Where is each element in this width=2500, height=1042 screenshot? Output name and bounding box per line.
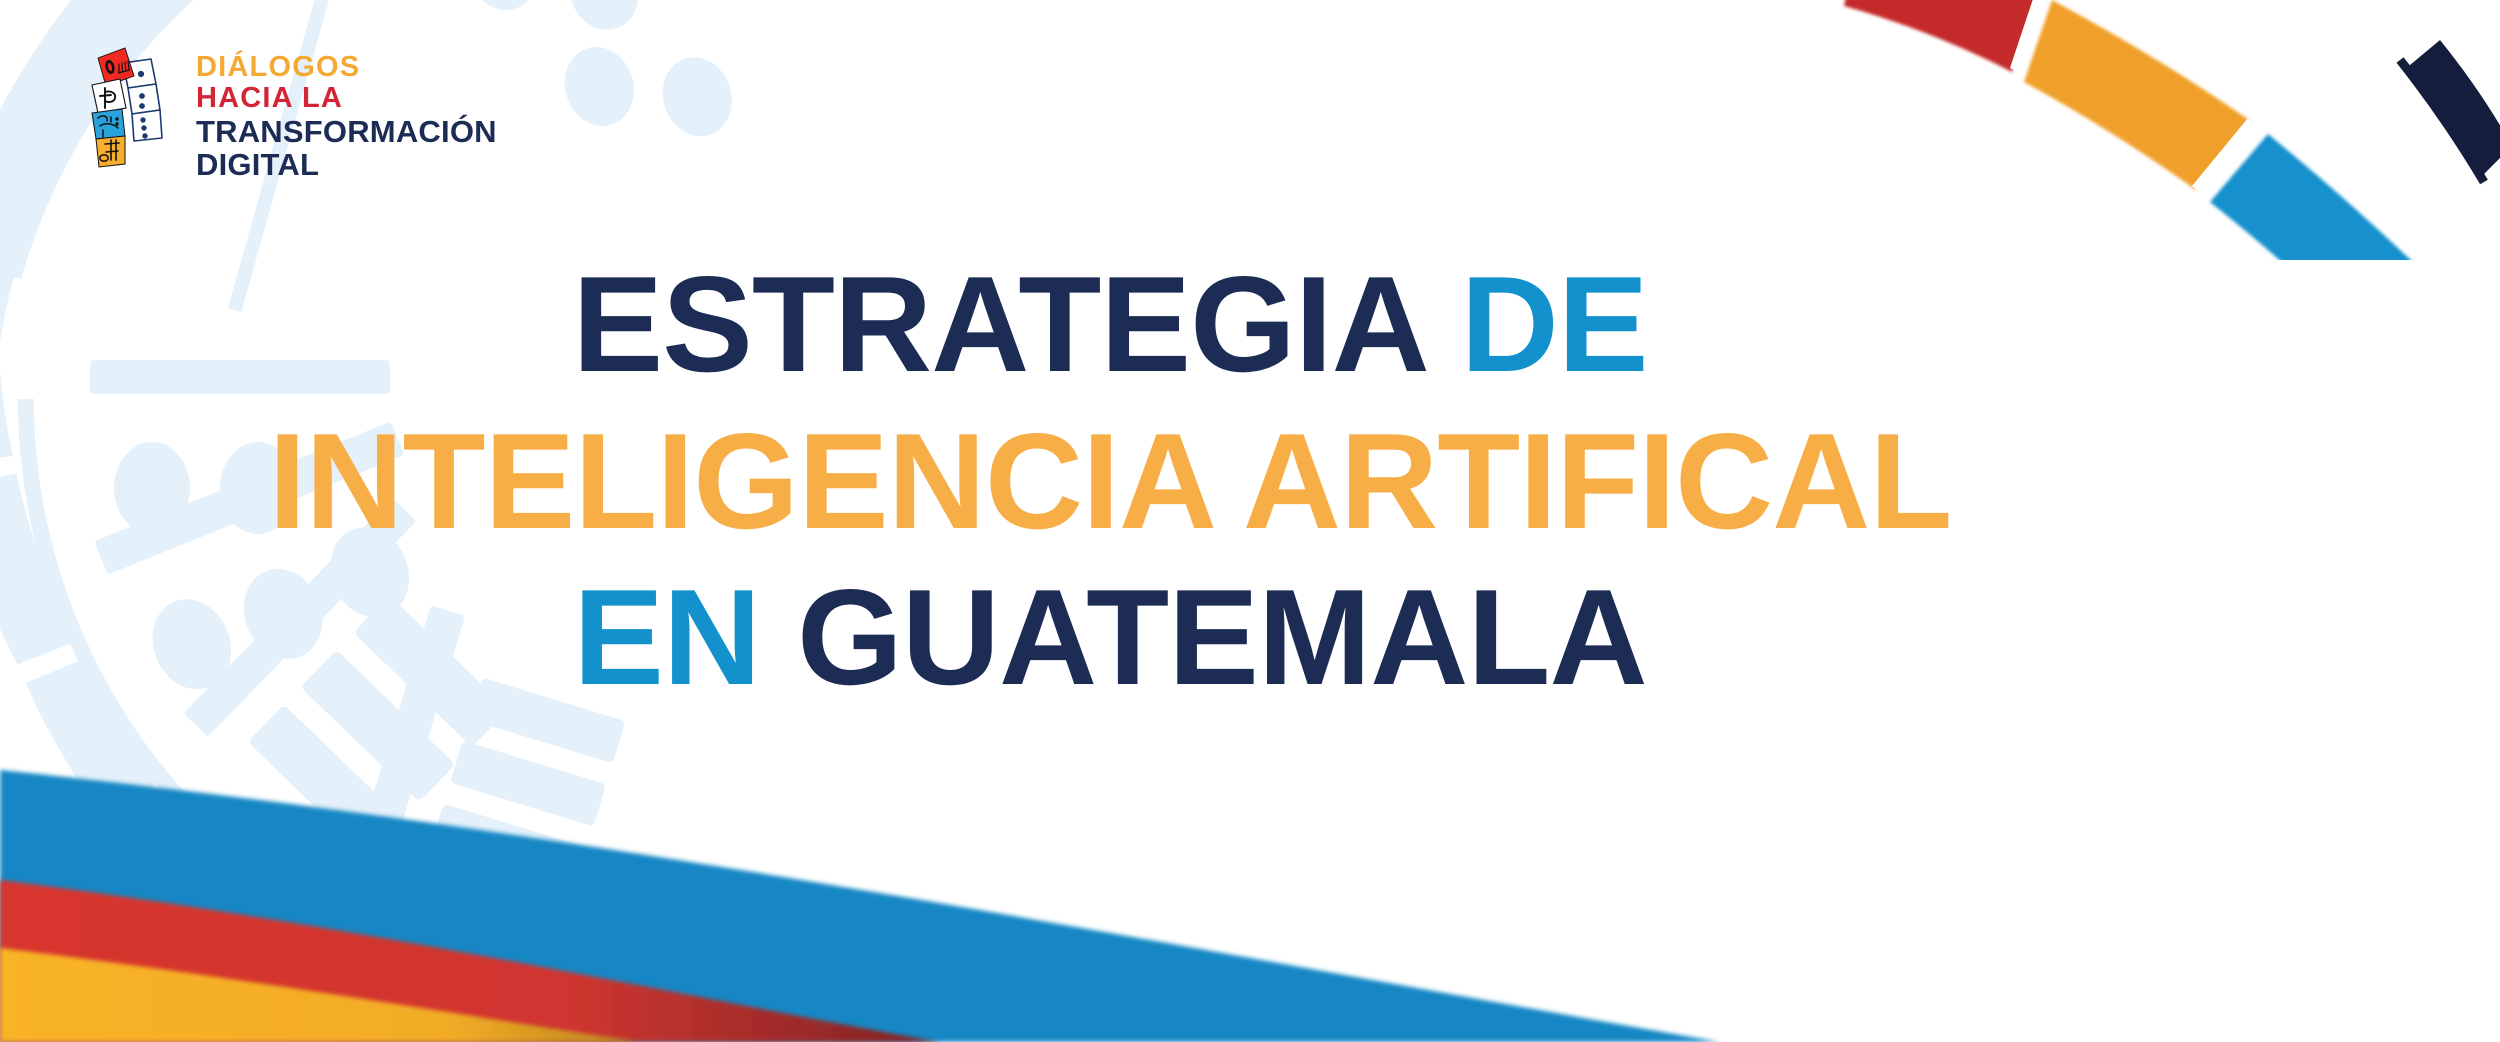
headline-en: EN — [573, 561, 760, 713]
logo-line-digital: DIGITAL — [196, 148, 497, 181]
logo-line-transformacion: TRANSFORMACIÓN — [196, 115, 497, 148]
bottom-left-color-waves — [0, 752, 2500, 1042]
logo-line-dialogos: DIÁLOGOS — [196, 52, 497, 83]
dialogos-fan-mark-icon — [78, 40, 170, 170]
headline-estrategia: ESTRATEGIA — [572, 248, 1423, 400]
headline-line-2: INTELIGENCIA ARTIFICAL — [0, 412, 2220, 551]
top-right-color-arc — [1740, 0, 2500, 260]
page-title: ESTRATEGIA DE INTELIGENCIA ARTIFICAL EN … — [0, 255, 2220, 707]
banner-root: DIÁLOGOS HACIA LA TRANSFORMACIÓN DIGITAL… — [0, 0, 2500, 1042]
headline-de: DE — [1461, 248, 1648, 400]
headline-inteligencia-artifical: INTELIGENCIA ARTIFICAL — [269, 405, 1952, 557]
headline-line-1: ESTRATEGIA DE — [0, 255, 2220, 394]
logo-lockup[interactable]: DIÁLOGOS HACIA LA TRANSFORMACIÓN DIGITAL — [78, 40, 497, 182]
headline-guatemala: GUATEMALA — [797, 561, 1647, 713]
logo-line-hacia-la: HACIA LA — [196, 83, 497, 114]
logo-wordmark: DIÁLOGOS HACIA LA TRANSFORMACIÓN DIGITAL — [196, 40, 497, 182]
headline-line-3: EN GUATEMALA — [0, 568, 2220, 707]
